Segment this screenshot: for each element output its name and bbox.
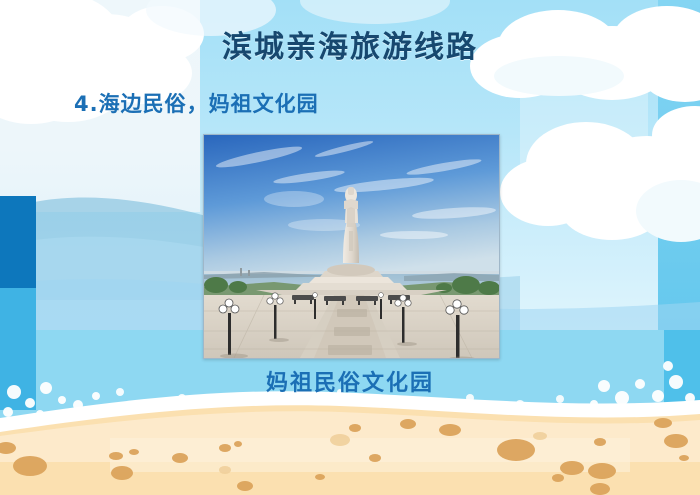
photo-illustration bbox=[204, 135, 499, 358]
sand-panel bbox=[110, 438, 630, 472]
page-title: 滨城亲海旅游线路 bbox=[0, 22, 700, 66]
photo-caption: 妈祖民俗文化园 bbox=[0, 365, 700, 397]
poster-canvas: 滨城亲海旅游线路 4.海边民俗，妈祖文化园 bbox=[0, 0, 700, 495]
section-subtitle: 4.海边民俗，妈祖文化园 bbox=[74, 88, 319, 118]
accent-band-dark bbox=[0, 196, 36, 288]
mazu-statue-plaza-photo[interactable] bbox=[203, 134, 500, 359]
accent-band-lightblue bbox=[0, 288, 36, 332]
